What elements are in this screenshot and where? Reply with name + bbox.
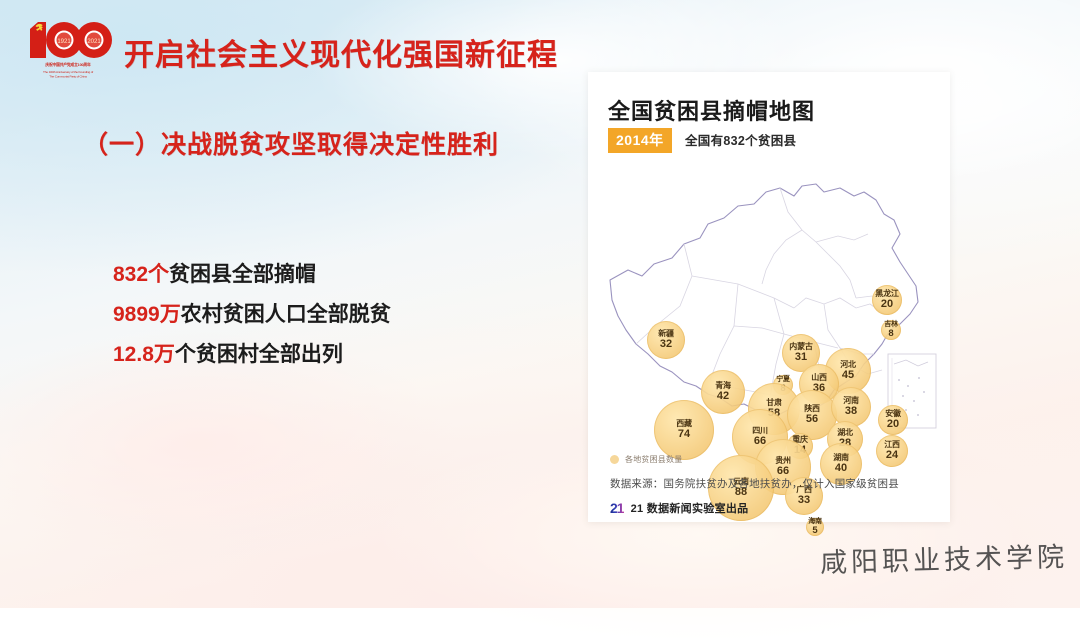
figure-label: 贫困县全部摘帽 [169, 263, 316, 286]
list-item: 832个贫困县全部摘帽 [113, 264, 391, 285]
map-bubble-label: 黑龙江 [875, 290, 898, 298]
map-bubble-label: 海南 [808, 518, 822, 525]
figure-label: 农村贫困人口全部脱贫 [181, 303, 391, 326]
china-map-plot: 黑龙江20吉林8新疆32内蒙古31河北45宁夏8山西36青海42甘肃58陕西56… [588, 158, 950, 448]
map-bubble-value: 56 [806, 414, 818, 426]
map-bubble: 河南38 [831, 387, 871, 427]
svg-text:1921: 1921 [57, 39, 71, 45]
map-bubble-label: 四川 [752, 427, 768, 435]
map-bubble: 吉林8 [881, 320, 901, 340]
map-source-note: 数据来源：国务院扶贫办及各地扶贫办，仅计入国家级贫困县 [610, 476, 899, 491]
map-bubble-label: 内蒙古 [789, 343, 812, 351]
legend-label: 各地贫困县数量 [625, 454, 682, 465]
map-bubble-label: 吉林 [884, 321, 898, 328]
figure-label: 个贫困村全部出列 [175, 343, 343, 366]
map-bubble: 海南5 [806, 518, 824, 536]
map-bubble-value: 74 [678, 429, 690, 441]
publisher-logo: 21 [610, 500, 624, 516]
map-bubble-label: 青海 [715, 382, 731, 390]
map-bubble-label: 湖北 [837, 429, 853, 437]
map-bubble: 江西24 [876, 435, 908, 467]
logo-subtitle-cn: 庆祝中国共产党成立100周年 [26, 62, 111, 68]
map-legend: 各地贫困县数量 [610, 454, 682, 465]
cpc-100th-anniversary-logo: 1921 2021 庆祝中国共产党成立100周年 The 100th Anniv… [22, 18, 114, 86]
figure-value: 12.8万 [113, 343, 175, 366]
map-bubble-value: 45 [842, 370, 854, 382]
map-bubble-value: 20 [881, 299, 893, 311]
institution-watermark: 咸阳职业技术学院 [820, 535, 1069, 580]
map-bubble-label: 宁夏 [776, 376, 790, 383]
logo-subtitle-en: The 100th Anniversary of the Founding of… [26, 70, 111, 78]
map-bubble: 安徽20 [878, 405, 908, 435]
map-subtitle: 全国有832个贫困县 [685, 130, 796, 149]
map-bubble-value: 40 [835, 463, 847, 475]
map-credit: 21 21 数据新闻实验室出品 [610, 500, 748, 516]
publisher-name: 21 数据新闻实验室出品 [631, 500, 749, 516]
slide-header: 1921 2021 庆祝中国共产党成立100周年 The 100th Anniv… [22, 18, 558, 86]
year-badge: 2014年 [608, 128, 672, 153]
map-bubble-label: 甘肃 [766, 399, 782, 407]
map-bubble-label: 西藏 [676, 420, 692, 428]
map-bubble-value: 38 [845, 406, 857, 418]
poverty-county-map-card: 全国贫困县摘帽地图 2014年 全国有832个贫困县 [588, 72, 950, 522]
map-bubble-value: 5 [812, 526, 817, 536]
legend-dot-icon [610, 455, 619, 464]
figure-value: 9899万 [113, 303, 181, 326]
map-bubble-value: 42 [717, 391, 729, 403]
map-bubble-label: 湖南 [833, 454, 849, 462]
key-figures-list: 832个贫困县全部摘帽 9899万农村贫困人口全部脱贫 12.8万个贫困村全部出… [113, 264, 391, 384]
map-bubble-label: 河北 [840, 361, 856, 369]
map-bubble: 新疆32 [647, 321, 685, 359]
map-bubble-label: 安徽 [885, 410, 901, 418]
section-heading: （一）决战脱贫攻坚取得决定性胜利 [83, 125, 499, 161]
map-bubble-label: 陕西 [804, 405, 820, 413]
map-bubble-value: 33 [798, 495, 810, 507]
map-bubble: 青海42 [701, 370, 745, 414]
map-bubble-label: 新疆 [658, 330, 674, 338]
map-bubble: 黑龙江20 [872, 285, 902, 315]
figure-value: 832个 [113, 263, 169, 286]
page-title: 开启社会主义现代化强国新征程 [124, 30, 558, 74]
map-bubble-label: 贵州 [775, 457, 791, 465]
slide-canvas: 1921 2021 庆祝中国共产党成立100周年 The 100th Anniv… [0, 0, 1080, 608]
map-bubble-label: 山西 [811, 374, 827, 382]
map-bubble-label: 江西 [884, 441, 900, 449]
map-bubble-value: 32 [660, 339, 672, 351]
map-bubble-value: 20 [887, 419, 899, 431]
map-bubble: 西藏74 [654, 400, 714, 460]
svg-text:2021: 2021 [87, 39, 101, 45]
map-title: 全国贫困县摘帽地图 [608, 94, 815, 126]
map-bubble-label: 河南 [843, 397, 859, 405]
map-bubble-value: 24 [886, 450, 898, 462]
map-bubble-value: 31 [795, 352, 807, 364]
list-item: 12.8万个贫困村全部出列 [113, 344, 391, 365]
map-bubble-value: 8 [888, 329, 893, 339]
list-item: 9899万农村贫困人口全部脱贫 [113, 304, 391, 325]
